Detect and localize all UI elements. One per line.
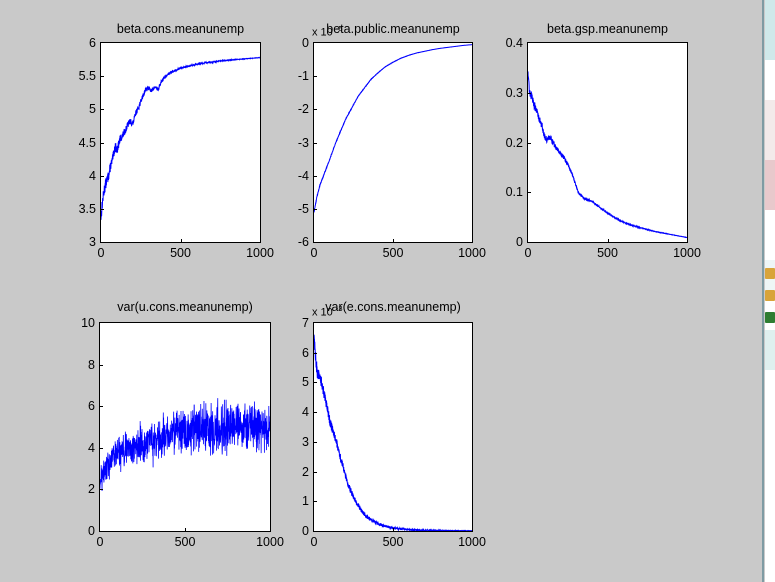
desktop-icon-1-icon[interactable] — [765, 268, 775, 279]
desktop-strip-band — [765, 370, 775, 582]
figure-canvas: beta.cons.meanunemp33.544.555.5605001000… — [0, 0, 762, 582]
y-axis-tick-label: 1 — [267, 494, 309, 508]
matlab-figure-window: beta.cons.meanunemp33.544.555.5605001000… — [0, 0, 775, 582]
desktop-strip-band — [765, 0, 775, 60]
y-axis-tick-label: 3 — [267, 435, 309, 449]
x-axis-tick-label: 0 — [311, 535, 318, 549]
y-axis-tick-label: 7 — [267, 316, 309, 330]
y-axis-tick-mark — [313, 501, 317, 502]
y-axis-tick-mark — [313, 353, 317, 354]
desktop-strip-band — [765, 210, 775, 260]
plot-line-var-e-cons-meanunemp — [314, 323, 472, 531]
y-axis-tick-mark — [313, 472, 317, 473]
desktop-icon-3-icon[interactable] — [765, 312, 775, 323]
x-axis-tick-label: 1000 — [458, 535, 486, 549]
x-axis-tick-label: 500 — [383, 535, 404, 549]
desktop-strip-band — [765, 100, 775, 160]
desktop-strip-band — [765, 330, 775, 370]
axis-multiplier-label: x 10 -3 — [312, 304, 343, 319]
y-axis-tick-label: 6 — [267, 346, 309, 360]
axes-box — [313, 322, 473, 532]
plot-var-e-cons-meanunemp: var(e.cons.meanunemp)x 10 -3012345670500… — [0, 0, 762, 582]
desktop-edge-strip[interactable] — [762, 0, 775, 582]
desktop-strip-separator — [762, 0, 764, 582]
x-axis-tick-mark — [393, 528, 394, 532]
y-axis-tick-label: 5 — [267, 375, 309, 389]
y-axis-tick-label: 4 — [267, 405, 309, 419]
desktop-strip-band — [765, 60, 775, 100]
desktop-icon-2-icon[interactable] — [765, 290, 775, 301]
y-axis-tick-mark — [313, 442, 317, 443]
y-axis-tick-mark — [313, 412, 317, 413]
desktop-strip-band — [765, 160, 775, 210]
y-axis-tick-label: 2 — [267, 465, 309, 479]
y-axis-tick-mark — [313, 382, 317, 383]
y-axis-tick-label: 0 — [267, 524, 309, 538]
